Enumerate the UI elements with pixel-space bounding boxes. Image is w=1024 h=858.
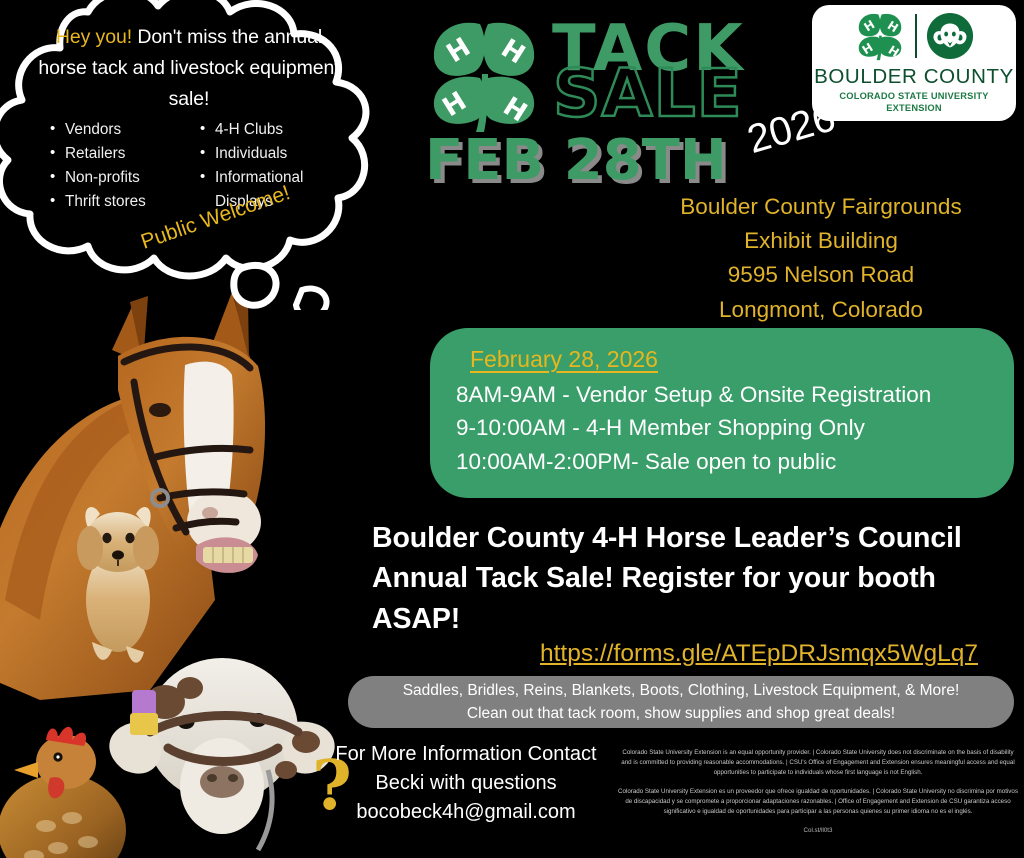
animal-photo-group	[0, 270, 360, 858]
items-banner-line-1: Saddles, Bridles, Reins, Blankets, Boots…	[403, 679, 960, 702]
list-item: Non-profits	[50, 166, 194, 190]
bubble-bullet-columns: Vendors Retailers Non-profits Thrift sto…	[34, 118, 344, 214]
event-date-big: FEB 28TH	[425, 128, 727, 193]
disclaimer-code: Col.st/ll0t3	[618, 826, 1018, 836]
legal-disclaimer: Colorado State University Extension is a…	[618, 748, 1018, 845]
bubble-heading: Hey you! Don't miss the annual horse tac…	[34, 22, 344, 114]
address-line-2: Exhibit Building	[620, 224, 1022, 258]
venue-address: Boulder County Fairgrounds Exhibit Build…	[620, 190, 1022, 327]
list-item: 4-H Clubs	[200, 118, 344, 142]
four-h-clover-icon: H H H H	[424, 16, 544, 134]
sale-title: SALE	[553, 55, 743, 132]
list-item: Retailers	[50, 142, 194, 166]
boulder-county-csu-logo: H H H H BOULDER COUNTY COLORADO STATE UN…	[812, 5, 1016, 121]
schedule-line: 9-10:00AM - 4-H Member Shopping Only	[456, 411, 988, 444]
logo-extension-text: COLORADO STATE UNIVERSITYEXTENSION	[839, 91, 988, 114]
four-h-clover-logo-icon: H H H H	[854, 11, 906, 61]
registration-link[interactable]: https://forms.gle/ATEpDRJsmqx5WgLq7	[540, 640, 978, 668]
bubble-text-block: Hey you! Don't miss the annual horse tac…	[34, 22, 344, 214]
poster-canvas: Hey you! Don't miss the annual horse tac…	[0, 0, 1024, 858]
thought-bubble: Hey you! Don't miss the annual horse tac…	[0, 0, 392, 310]
address-line-4: Longmont, Colorado	[620, 293, 1022, 327]
list-item: Vendors	[50, 118, 194, 142]
schedule-line: 10:00AM-2:00PM- Sale open to public	[456, 445, 988, 478]
contact-line-1: For More Information Contact	[330, 740, 602, 769]
bubble-heading-accent: Hey you!	[56, 26, 132, 48]
schedule-date: February 28, 2026	[470, 346, 658, 373]
logo-divider	[915, 14, 917, 58]
bullet-column-left: Vendors Retailers Non-profits Thrift sto…	[34, 118, 194, 214]
animals-illustration	[0, 270, 360, 858]
items-banner-line-2: Clean out that tack room, show supplies …	[467, 702, 895, 725]
contact-line-2: Becki with questions	[330, 769, 602, 798]
contact-block: For More Information Contact Becki with …	[330, 740, 602, 828]
list-item: Individuals	[200, 142, 344, 166]
logo-county-text: BOULDER COUNTY	[814, 65, 1014, 89]
logo-marks: H H H H	[854, 11, 974, 61]
address-line-1: Boulder County Fairgrounds	[620, 190, 1022, 224]
contact-email[interactable]: bocobeck4h@gmail.com	[330, 798, 602, 827]
schedule-line: 8AM-9AM - Vendor Setup & Onsite Registra…	[456, 378, 988, 411]
disclaimer-english: Colorado State University Extension is a…	[618, 748, 1018, 778]
items-banner: Saddles, Bridles, Reins, Blankets, Boots…	[348, 676, 1014, 728]
address-line-3: 9595 Nelson Road	[620, 258, 1022, 292]
disclaimer-spanish: Colorado State University Extension es u…	[618, 787, 1018, 817]
list-item: Thrift stores	[50, 190, 194, 214]
main-headline: Boulder County 4-H Horse Leader’s Counci…	[372, 518, 1012, 639]
csu-ram-icon	[926, 12, 974, 60]
schedule-card: February 28, 2026 8AM-9AM - Vendor Setup…	[430, 328, 1014, 498]
